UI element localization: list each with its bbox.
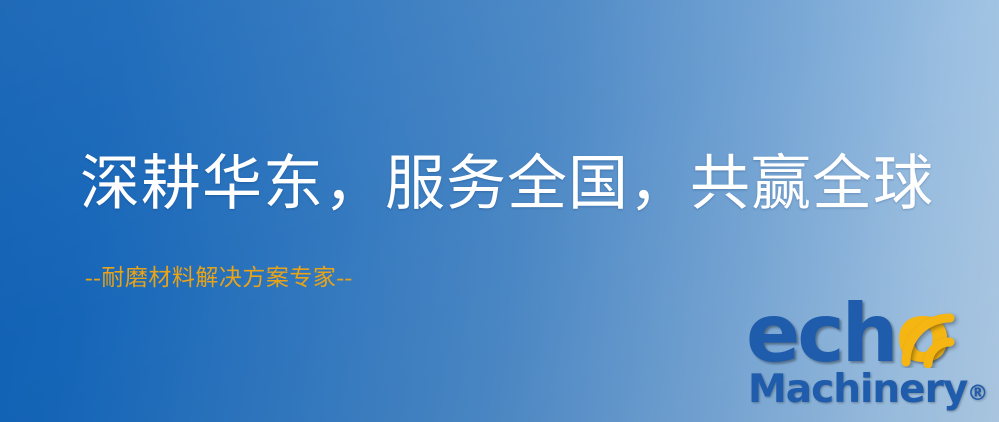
company-logo[interactable]: echo Machinery® xyxy=(742,294,997,422)
logo-subtext: Machinery® xyxy=(748,370,988,413)
hero-banner: 深耕华东，服务全国，共赢全球 --耐磨材料解决方案专家-- echo Machi… xyxy=(0,0,999,422)
banner-headline: 深耕华东，服务全国，共赢全球 xyxy=(80,154,934,214)
banner-subtitle: --耐磨材料解决方案专家-- xyxy=(85,266,353,289)
registered-trademark-icon: ® xyxy=(967,381,988,405)
logo-subtext-label: Machinery xyxy=(748,367,967,412)
echo-waves-icon xyxy=(898,296,968,368)
